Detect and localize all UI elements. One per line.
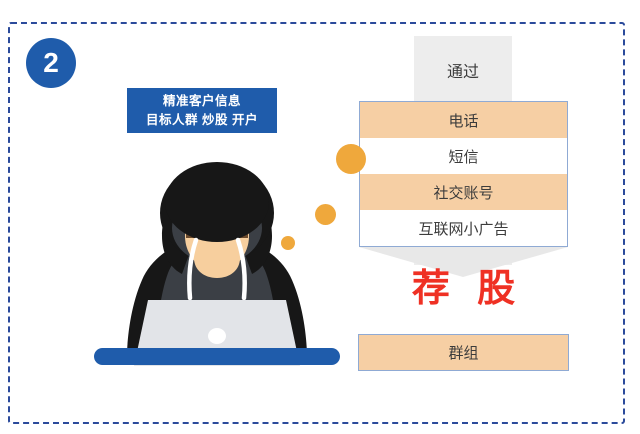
step-number-badge: 2: [26, 38, 76, 88]
infographic-canvas: 2 精准客户信息 目标人群 炒股 开户 通过 电话 短信 社交账号 互联网小广告…: [0, 0, 640, 434]
step-number-label: 2: [43, 49, 59, 77]
hood-front-shape: [165, 162, 269, 242]
channel-label: 互联网小广告: [418, 218, 508, 239]
laptop-logo: [208, 328, 226, 344]
hooded-hacker-illustration: [94, 140, 340, 366]
channel-row: 电话: [360, 102, 567, 138]
caption-line-1: 精准客户信息: [163, 92, 241, 111]
channel-row: 社交账号: [360, 174, 567, 210]
channel-row: 短信: [360, 138, 567, 174]
channel-label: 短信: [448, 146, 478, 167]
channel-row: 互联网小广告: [360, 210, 567, 246]
channel-section-heading: 通过: [414, 58, 512, 82]
channel-list: 电话 短信 社交账号 互联网小广告: [359, 101, 568, 247]
channel-label: 电话: [448, 110, 478, 131]
headline-text: 荐 股: [359, 267, 568, 311]
caption-line-2: 目标人群 炒股 开户: [146, 111, 258, 130]
group-box: 群组: [358, 334, 569, 371]
caption-box: 精准客户信息 目标人群 炒股 开户: [127, 88, 277, 133]
group-box-label: 群组: [448, 342, 478, 363]
channel-label: 社交账号: [433, 182, 493, 203]
desk-bar: [94, 348, 340, 365]
